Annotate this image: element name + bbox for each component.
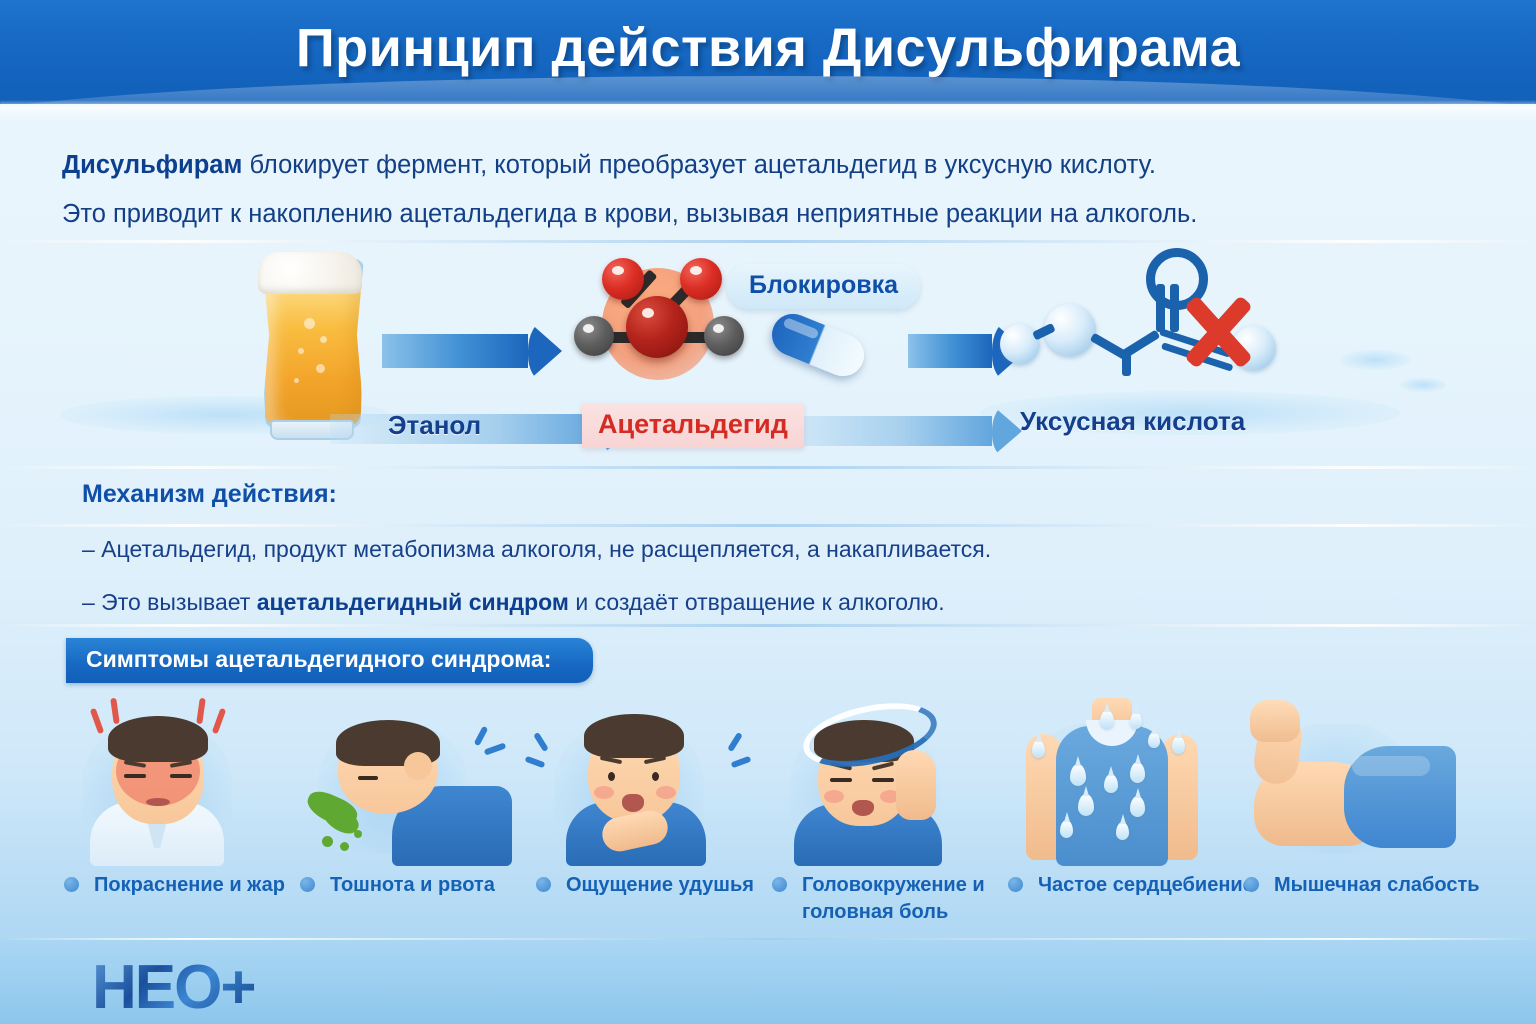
sweat-drop <box>1130 762 1145 783</box>
eye <box>652 772 659 781</box>
vomit-drop <box>340 842 349 851</box>
blocking-badge: Блокировка <box>727 264 920 309</box>
cheek <box>594 786 614 799</box>
sweat-drop <box>1078 794 1094 816</box>
divider-4 <box>0 624 1536 627</box>
bubble <box>294 378 299 383</box>
open-mouth <box>852 800 874 816</box>
mechanism-item-prefix: – Это вызывает <box>82 589 257 615</box>
reaction-diagram: Блокировка Этанол Ацетальдегид Уксусная … <box>0 246 1536 464</box>
intro-line-1-rest: блокирует фермент, который преобразует а… <box>242 151 1156 179</box>
symptom-item: Головокружение и головная боль <box>768 690 1004 938</box>
bubble <box>316 364 325 373</box>
mouth <box>146 798 170 806</box>
arrow-head <box>528 321 562 381</box>
page-title: Принцип действия Дисульфирама <box>0 17 1536 79</box>
divider-3 <box>0 524 1536 527</box>
carbon-atom <box>574 316 614 356</box>
bubble <box>320 336 327 343</box>
oxygen-atom <box>680 258 722 300</box>
header-wave-decoration <box>0 100 1536 122</box>
sweat-drop <box>1116 822 1129 840</box>
motion-line <box>727 732 743 752</box>
intro-bold-term: Дисульфирам <box>62 151 242 179</box>
beer-foam <box>258 252 362 294</box>
heat-wave <box>110 698 120 725</box>
motion-line <box>484 742 507 755</box>
dizzy-head-icon <box>768 690 1004 866</box>
sweat-drop <box>1148 732 1160 748</box>
symptom-item: Мышечная слабость <box>1240 690 1476 938</box>
bubble <box>304 318 315 329</box>
symptom-label: Покраснение и жар <box>68 872 320 899</box>
motion-line <box>533 732 549 752</box>
intro-text-block: Дисульфирам блокирует фермент, который п… <box>62 150 1482 248</box>
closed-eye <box>872 778 894 782</box>
arrow-shaft <box>382 334 528 368</box>
hand-on-head <box>896 750 936 820</box>
symptom-item: Частое сердцебиение <box>1004 690 1240 938</box>
closed-eye <box>358 776 378 780</box>
capsule-pill-icon <box>766 308 871 383</box>
ethanol-label: Этанол <box>388 410 481 441</box>
infographic-page: Принцип действия Дисульфирама Дисульфира… <box>0 0 1536 1024</box>
mechanism-title: Механизм действия: <box>82 480 337 509</box>
cheek <box>656 786 676 799</box>
fist <box>1250 700 1300 742</box>
vomit-drop <box>354 830 362 838</box>
flushed-face-icon <box>60 690 296 866</box>
heat-wave <box>90 708 105 734</box>
symptom-item: Покраснение и жар <box>60 690 296 938</box>
sweat-drop <box>1104 774 1118 793</box>
motion-line <box>731 756 752 768</box>
hair <box>584 714 684 758</box>
closed-eye <box>830 778 852 782</box>
symptoms-section-tab: Симптомы ацетальдегидного синдрома: <box>66 638 593 683</box>
symptom-label: Ощущение удушья <box>540 872 792 899</box>
heat-wave <box>196 698 206 725</box>
red-x-icon <box>1180 292 1260 372</box>
eye <box>608 772 615 781</box>
sweat-drop <box>1172 736 1185 754</box>
sweat-drop <box>1100 710 1114 729</box>
acetaldehyde-label: Ацетальдегид <box>582 403 804 448</box>
arrow-shaft <box>908 334 992 368</box>
intro-line-1: Дисульфирам блокирует фермент, который п… <box>62 150 1482 181</box>
divider-1 <box>0 240 1536 243</box>
central-atom <box>626 296 688 358</box>
vomiting-person-icon <box>296 690 532 866</box>
oxygen-atom <box>602 258 644 300</box>
brand-logo: НЕО+ <box>92 952 255 1023</box>
acetic-acid-label: Уксусная кислота <box>1020 406 1245 437</box>
sleeve-highlight <box>1352 756 1430 776</box>
mechanism-item: – Это вызывает ацетальдегидный синдром и… <box>82 589 1382 616</box>
symptom-item: Тошнота и рвота <box>296 690 532 938</box>
acetaldehyde-molecule-icon <box>570 254 750 394</box>
symptom-item: Ощущение удушья <box>532 690 768 938</box>
mechanism-item-bold: ацетальдегидный синдром <box>257 589 569 615</box>
puddle-decoration-small-1 <box>1340 350 1410 370</box>
intro-line-2: Это приводит к накоплению ацетальдегида … <box>62 199 1482 230</box>
acetic-acid-molecule-icon <box>1000 246 1290 396</box>
hydrogen-ball <box>1000 324 1040 364</box>
bubble <box>298 348 304 354</box>
puddle-decoration-small-2 <box>1400 378 1446 392</box>
symptom-label: Тошнота и рвота <box>304 872 556 899</box>
sweat-drop <box>1070 764 1086 786</box>
symptom-label: Частое сердцебиение <box>1012 872 1264 899</box>
mechanism-item: – Ацетальдегид, продукт метабопизма алко… <box>82 536 1382 563</box>
sweating-torso-icon <box>1004 690 1240 866</box>
cheek <box>824 790 844 803</box>
symptoms-row: Покраснение и жар Тошнота и рвота <box>60 690 1480 938</box>
mechanism-item-suffix: и создаёт отвращение к алкоголю. <box>569 589 945 615</box>
vomit-drop <box>322 836 333 847</box>
choking-person-icon <box>532 690 768 866</box>
symptom-label: Головокружение и головная боль <box>776 872 1028 926</box>
flexed-arm-icon <box>1240 690 1476 866</box>
sweat-drop <box>1032 740 1045 758</box>
sweat-drop <box>1130 712 1142 729</box>
sweat-drop <box>1060 820 1073 838</box>
carbon-atom <box>704 316 744 356</box>
bond-down <box>1122 350 1131 376</box>
ear <box>404 752 432 780</box>
open-mouth <box>622 794 644 812</box>
motion-line <box>474 726 489 746</box>
heat-wave <box>212 708 227 734</box>
symptom-label: Мышечная слабость <box>1248 872 1500 899</box>
sweat-drop <box>1130 796 1145 817</box>
mechanism-item-text: – Ацетальдегид, продукт метабопизма алко… <box>82 536 991 562</box>
page-header: Принцип действия Дисульфирама <box>0 0 1536 104</box>
divider-2 <box>0 466 1536 469</box>
closed-eye <box>170 774 192 778</box>
arrow-head <box>992 405 1022 457</box>
closed-eye <box>124 774 146 778</box>
hair <box>108 716 208 762</box>
